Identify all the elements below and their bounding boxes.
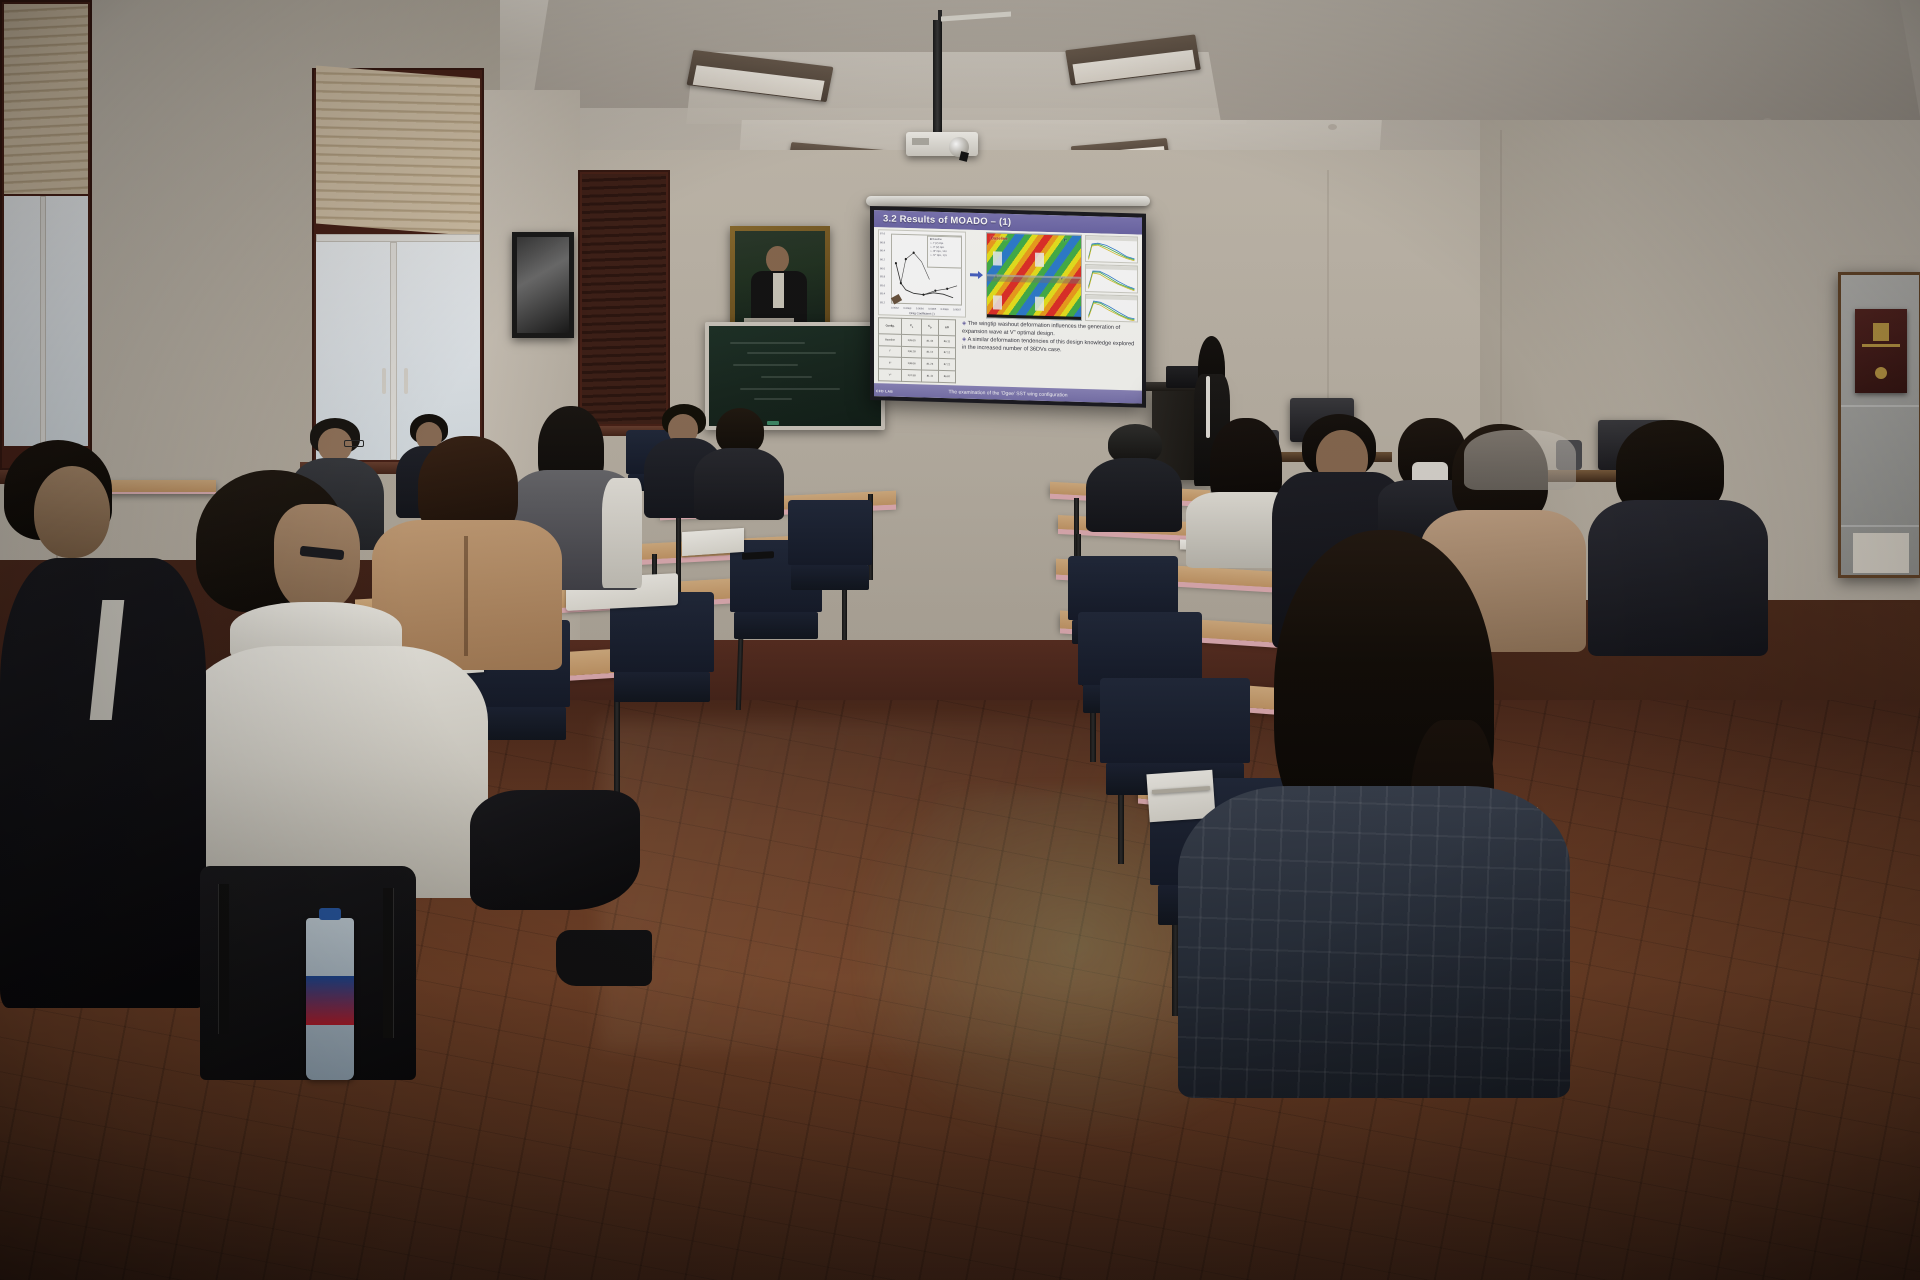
window-blind[interactable] <box>4 4 88 194</box>
audience-shoulder <box>1464 430 1576 490</box>
slide-results-table: Config.CLCDL/D Baseline135.0581.4486.11 … <box>878 317 956 383</box>
audience-man-dark-suit-front-right <box>1086 424 1182 520</box>
window-frame <box>312 68 484 468</box>
slide-right-plot <box>1085 294 1138 323</box>
audience-woman-plaid-blazer-foreground <box>1178 530 1570 1090</box>
display-book <box>1855 309 1907 393</box>
chair[interactable] <box>610 592 714 730</box>
window-handle[interactable] <box>382 368 386 394</box>
window-shutter[interactable] <box>582 174 666 424</box>
slide-logo: CFD LAB <box>876 391 893 395</box>
white-blouse-sleeve <box>602 478 642 588</box>
slide-arrow-icon <box>969 232 983 318</box>
display-certificate <box>1853 533 1909 573</box>
slide: 3.2 Results of MOADO – (1) 87.686.886.48… <box>874 210 1142 403</box>
ceiling-downlight <box>1328 124 1337 130</box>
slide-bullets: ◈ The wingtip washout deformation influe… <box>960 320 1138 389</box>
slide-right-plot <box>1085 235 1138 264</box>
slide-footer-text: The examination of the 'Ogee' SST wing c… <box>948 389 1067 398</box>
coat-over-chair <box>470 790 640 910</box>
audience-woman-dark-jacket <box>694 408 784 514</box>
open-book <box>682 528 744 556</box>
plot-legend: ◆ Baseline— I" (V) Opt.— II" (V) Opt. — … <box>927 236 962 269</box>
audience-person-right-edge <box>1588 420 1768 650</box>
window-sash <box>40 196 46 446</box>
audience-man-dark-suit-left-edge <box>0 440 206 1000</box>
slide-body: 87.686.886.486.2 86.085.885.685.485.2 <box>874 227 1142 390</box>
slide-bullet-2: A similar deformation tendencies of this… <box>962 337 1134 354</box>
framed-photo <box>512 232 574 338</box>
slide-right-plots <box>1085 235 1138 322</box>
window-handle[interactable] <box>404 368 408 394</box>
window-frame <box>578 170 670 428</box>
shoe <box>556 930 652 986</box>
window-glass <box>4 196 88 446</box>
slide-left-plot: 87.686.886.486.2 86.085.885.685.485.2 <box>878 229 966 317</box>
bottle-cap <box>319 908 340 920</box>
projection-screen-roller[interactable] <box>866 196 1150 206</box>
ceiling-recess <box>1199 0 1920 120</box>
water-bottle <box>306 918 354 1080</box>
projector-pole <box>933 20 942 132</box>
audience-man-white-turtleneck <box>178 470 488 890</box>
plot-y-ticks: 87.686.886.486.2 86.085.885.685.485.2 <box>880 232 885 304</box>
slide-bullet-1: The wingtip washout deformation influenc… <box>962 321 1120 338</box>
slide-cfd-contour-image: Baseline I" II" V" <box>986 232 1082 321</box>
chair[interactable] <box>788 500 872 612</box>
window-frame <box>0 0 92 470</box>
display-cabinet[interactable] <box>1838 272 1920 578</box>
slide-right-plot <box>1085 264 1138 293</box>
window-blind[interactable] <box>316 66 480 237</box>
eyeglasses <box>344 440 364 447</box>
window-sash <box>316 234 480 242</box>
lecture-hall-scene: 3.2 Results of MOADO – (1) 87.686.886.48… <box>0 0 1920 1280</box>
projection-screen: 3.2 Results of MOADO – (1) 87.686.886.48… <box>870 206 1146 408</box>
